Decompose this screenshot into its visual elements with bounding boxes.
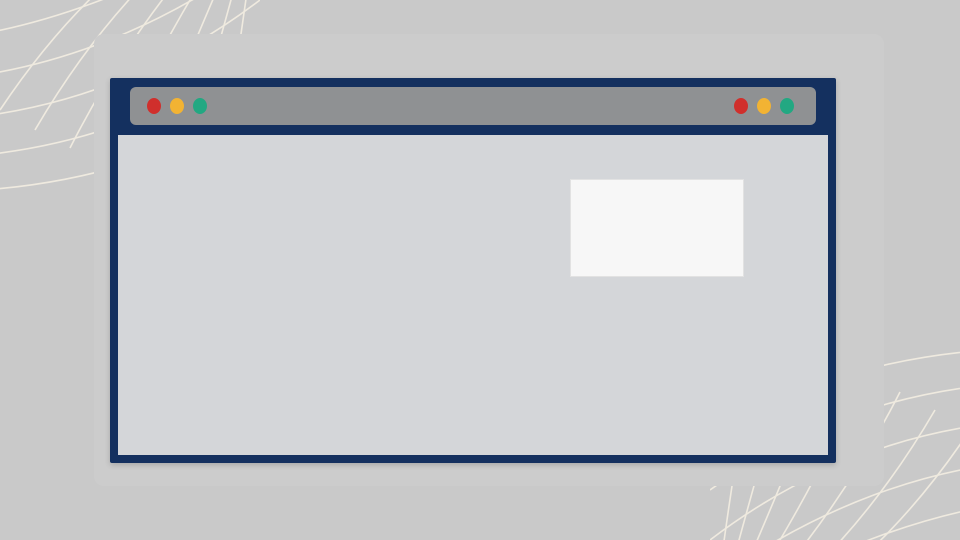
presentation-window [110,78,836,463]
window-dot-green-right[interactable] [780,98,794,114]
slide-content [118,135,828,455]
window-dot-green-left[interactable] [193,98,207,114]
window-dot-yellow-left[interactable] [170,98,184,114]
window-dots-left [147,98,207,114]
window-dot-red-right[interactable] [734,98,748,114]
window-dots-right [734,98,794,114]
window-titlebar [130,87,816,125]
window-dot-red-left[interactable] [147,98,161,114]
window-dot-yellow-right[interactable] [757,98,771,114]
code-snippet-block [570,179,744,277]
